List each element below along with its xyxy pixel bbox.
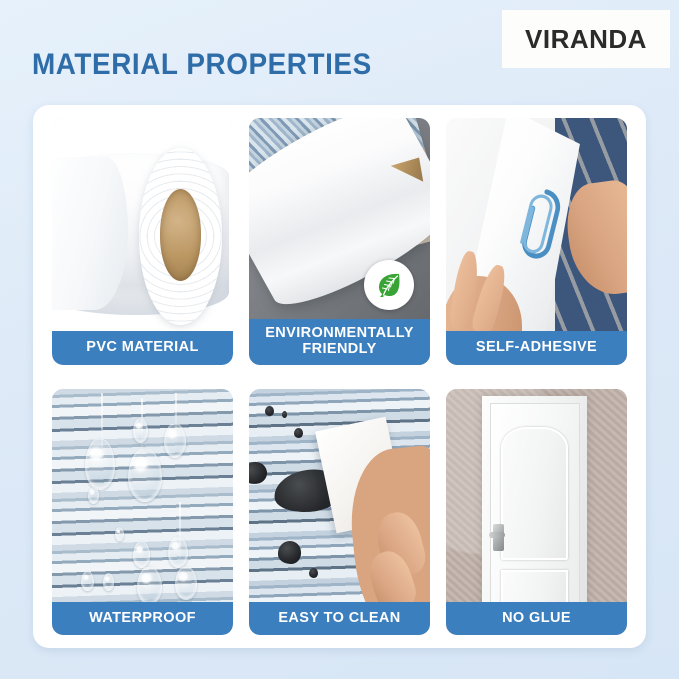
feature-panel: PVC MATERIAL bbox=[33, 105, 646, 648]
feature-card-waterproof[interactable]: WATERPROOF bbox=[52, 389, 233, 636]
waterproof-photo bbox=[52, 389, 233, 636]
feature-label-waterproof: WATERPROOF bbox=[52, 602, 233, 635]
feature-label-self-adhesive: SELF-ADHESIVE bbox=[446, 331, 627, 364]
feature-card-self-adhesive[interactable]: SELF-ADHESIVE bbox=[446, 118, 627, 365]
self-adhesive-photo bbox=[446, 118, 627, 365]
brand-name: VIRANDA bbox=[525, 24, 647, 55]
feature-card-easy-to-clean[interactable]: EASY TO CLEAN bbox=[249, 389, 430, 636]
feature-label-line-2: FRIENDLY bbox=[253, 341, 426, 357]
leaf-icon bbox=[364, 260, 414, 310]
brand-badge: VIRANDA bbox=[502, 10, 670, 68]
feature-label-pvc-material: PVC MATERIAL bbox=[52, 331, 233, 364]
no-glue-photo bbox=[446, 389, 627, 636]
feature-grid: PVC MATERIAL bbox=[52, 118, 627, 635]
feature-label-line-1: ENVIRONMENTALLY bbox=[253, 325, 426, 341]
feature-card-environmentally-friendly[interactable]: ENVIRONMENTALLY FRIENDLY bbox=[249, 118, 430, 365]
page-title: MATERIAL PROPERTIES bbox=[32, 48, 372, 82]
easy-to-clean-photo bbox=[249, 389, 430, 636]
feature-label-environmentally-friendly: ENVIRONMENTALLY FRIENDLY bbox=[249, 319, 430, 364]
feature-card-no-glue[interactable]: NO GLUE bbox=[446, 389, 627, 636]
feature-label-easy-to-clean: EASY TO CLEAN bbox=[249, 602, 430, 635]
pvc-roll-photo bbox=[52, 118, 233, 365]
feature-label-no-glue: NO GLUE bbox=[446, 602, 627, 635]
feature-card-pvc-material[interactable]: PVC MATERIAL bbox=[52, 118, 233, 365]
